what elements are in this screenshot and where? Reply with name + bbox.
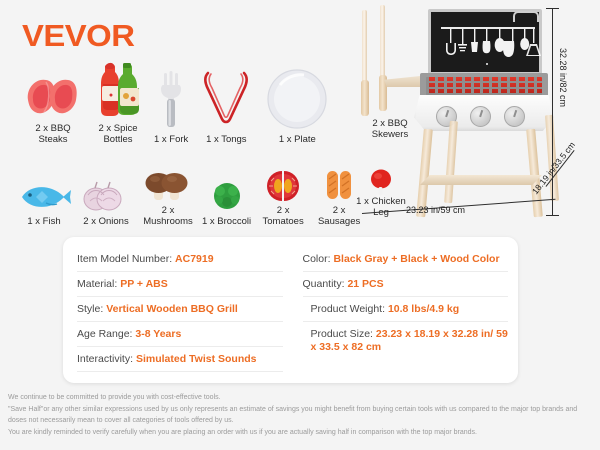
disclaimer-line-1: We continue to be committed to provide y… xyxy=(8,392,594,404)
spec-key: Age Range: xyxy=(77,328,135,340)
vevor-logo: VEVOR xyxy=(22,18,134,54)
spec-column-right: Color: Black Gray + Black + Wood Color Q… xyxy=(297,247,519,383)
accessory-label: 1 x Broccoli xyxy=(202,216,251,227)
svg-text:●: ● xyxy=(109,92,113,99)
spec-item-material: Material: PP + ABS xyxy=(77,272,283,297)
fork-icon xyxy=(154,69,188,131)
accessory-tomatoes: 2 xTomatoes xyxy=(257,168,309,227)
spec-item-style: Style: Vertical Wooden BBQ Grill xyxy=(77,297,283,322)
grill-bottom-shelf xyxy=(420,175,542,185)
spec-value: 21 PCS xyxy=(347,278,383,290)
accessory-mushrooms: 2 xMushrooms xyxy=(140,168,196,227)
accessory-label: 2 x Onions xyxy=(83,216,128,227)
spec-value: 10.8 lbs/4.9 kg xyxy=(388,303,459,315)
grill-leg-front-left xyxy=(416,129,433,217)
spec-column-left: Item Model Number: AC7919 Material: PP +… xyxy=(63,247,297,383)
accessory-label: 1 x Plate xyxy=(279,134,316,145)
spec-key: Material: xyxy=(77,278,120,290)
grill-leg-back-left xyxy=(444,121,458,203)
disclaimer-line-3: You are kindly reminded to verify carefu… xyxy=(8,427,594,439)
accessory-broccoli: 1 x Broccoli xyxy=(202,179,251,227)
plate-icon xyxy=(264,67,330,131)
spec-value: AC7919 xyxy=(175,253,214,265)
bbq-skewer-1 xyxy=(362,10,367,116)
accessory-label: 2 xTomatoes xyxy=(263,205,304,227)
spec-value: Black Gray + Black + Wood Color xyxy=(333,253,499,265)
spec-item-quantity: Quantity: 21 PCS xyxy=(303,272,509,297)
spec-key: Quantity: xyxy=(303,278,348,290)
spec-value: Simulated Twist Sounds xyxy=(136,353,257,365)
dimension-tick-height-bottom xyxy=(546,215,559,216)
dimension-height-label: 32.28 in/82 cm xyxy=(558,48,568,107)
dimension-tick-height-top xyxy=(546,8,559,9)
grill-knob-3[interactable] xyxy=(504,106,525,127)
accessory-onions: 2 x Onions xyxy=(78,179,134,227)
spec-key: Item Model Number: xyxy=(77,253,175,265)
spec-item-model-number: Item Model Number: AC7919 xyxy=(77,247,283,272)
accessory-label: 2 x SpiceBottles xyxy=(98,123,137,145)
accessory-bbq-steaks: 2 x BBQSteaks xyxy=(24,72,82,145)
spec-item-interactivity: Interactivity: Simulated Twist Sounds xyxy=(77,347,283,372)
spec-key: Product Weight: xyxy=(311,303,388,315)
accessory-label: 2 x BBQSteaks xyxy=(35,123,70,145)
spec-item-color: Color: Black Gray + Black + Wood Color xyxy=(303,247,509,272)
accessory-row-bottom: 1 x Fish 2 x Onions xyxy=(16,168,363,227)
spec-item-product-weight: Product Weight: 10.8 lbs/4.9 kg xyxy=(303,297,509,322)
accessory-tongs: 1 x Tongs xyxy=(198,67,254,145)
accessory-row-top: 2 x BBQSteaks ● xyxy=(24,58,330,145)
grill-grate xyxy=(426,77,542,95)
accessory-spice-bottles: ● 2 x SpiceBottles xyxy=(92,58,144,145)
disclaimer-line-2: "Save Half"or any other similar expressi… xyxy=(8,404,594,427)
dimension-line-height xyxy=(552,8,553,216)
spec-value: Vertical Wooden BBQ Grill xyxy=(106,303,238,315)
tongs-icon xyxy=(198,67,254,131)
spec-item-age-range: Age Range: 3-8 Years xyxy=(77,322,283,347)
accessory-label: 2 xMushrooms xyxy=(143,205,193,227)
fish-icon xyxy=(16,181,72,213)
specification-card: Item Model Number: AC7919 Material: PP +… xyxy=(63,237,518,383)
grill-leg-front-right xyxy=(526,129,543,217)
grill-chalkboard-lid xyxy=(428,9,542,75)
infographic-canvas: VEVOR 2 x BBQSteaks xyxy=(0,0,600,450)
footer-disclaimer: We continue to be committed to provide y… xyxy=(8,392,594,438)
mushrooms-icon xyxy=(140,168,196,202)
broccoli-icon xyxy=(206,179,248,213)
onions-icon xyxy=(78,179,134,213)
spec-key: Style: xyxy=(77,303,106,315)
grill-knob-2[interactable] xyxy=(470,106,491,127)
accessory-fish: 1 x Fish xyxy=(16,181,72,227)
accessory-fork: 1 x Fork xyxy=(154,69,188,145)
spec-key: Color: xyxy=(303,253,334,265)
spec-key: Product Size: xyxy=(311,328,376,340)
bbq-skewer-2 xyxy=(380,5,385,111)
spec-value: PP + ABS xyxy=(120,278,168,290)
product-photo: 2 x BBQSkewers 1 x ChickenLeg xyxy=(340,0,575,235)
accessory-label: 1 x Tongs xyxy=(206,134,247,145)
spec-item-product-size: Product Size: 23.23 x 18.19 x 32.28 in/ … xyxy=(303,322,509,360)
spice-bottles-icon: ● xyxy=(92,58,144,120)
accessory-label: 1 x Fork xyxy=(154,134,188,145)
spec-value: 3-8 Years xyxy=(135,328,181,340)
accessory-plate: 1 x Plate xyxy=(264,67,330,145)
bbq-steaks-icon xyxy=(24,72,82,120)
accessory-label: 1 x Fish xyxy=(27,216,60,227)
spec-key: Interactivity: xyxy=(77,353,136,365)
dimension-width-label: 23.23 in/59 cm xyxy=(406,205,465,215)
tomatoes-icon xyxy=(257,168,309,202)
